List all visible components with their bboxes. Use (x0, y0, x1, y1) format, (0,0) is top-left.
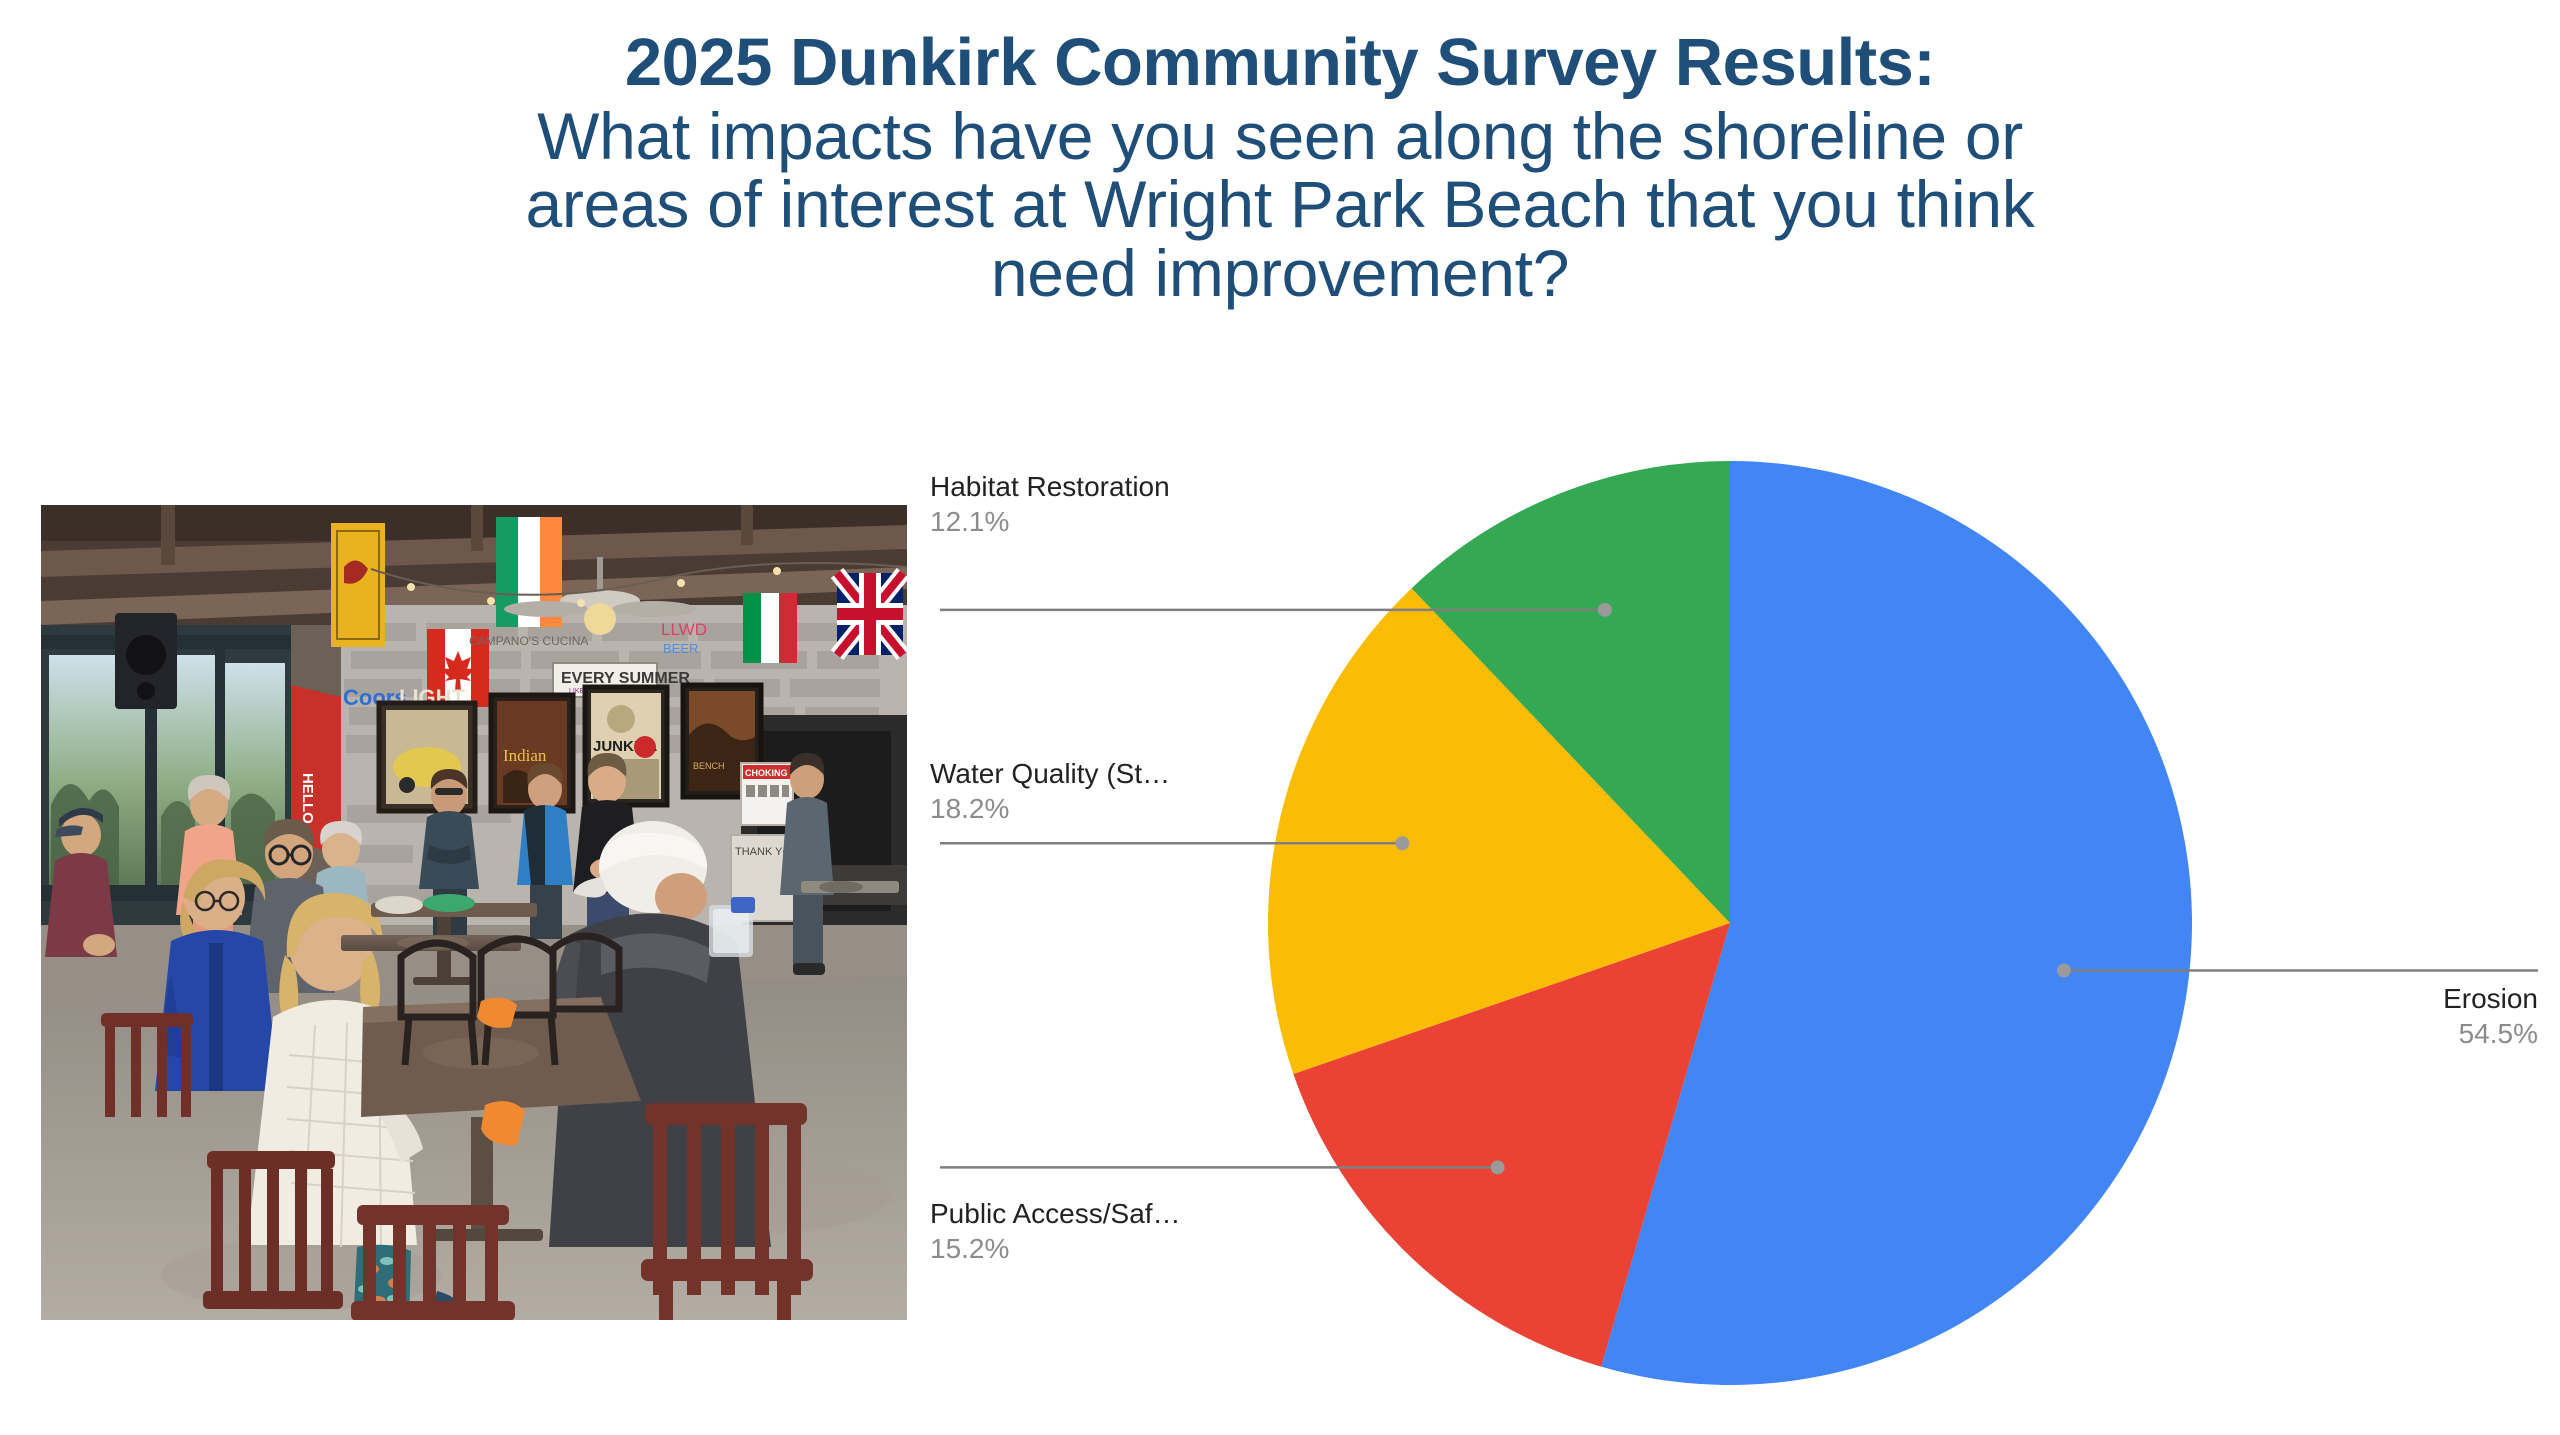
svg-text:CAMPANO'S CUCINA: CAMPANO'S CUCINA (469, 634, 588, 648)
pie-label-public-access-name: Public Access/Saf… (930, 1197, 1181, 1231)
subtitle-line-2: areas of interest at Wright Park Beach t… (0, 170, 2560, 239)
svg-text:Indian: Indian (503, 746, 547, 765)
svg-text:EVERY SUMMER: EVERY SUMMER (561, 670, 690, 687)
pie-label-habitat-restoration: Habitat Restoration 12.1% (930, 470, 1170, 540)
subtitle-line-3: need improvement? (0, 239, 2560, 308)
page-title: 2025 Dunkirk Community Survey Results: (0, 28, 2560, 98)
pie-leader-dot (1598, 603, 1612, 617)
svg-text:BEER: BEER (663, 641, 698, 656)
svg-text:HELLO: HELLO (299, 773, 316, 824)
slide-title-block: 2025 Dunkirk Community Survey Results: W… (0, 28, 2560, 308)
community-meeting-photo: Coors LIGHT LLWD BEER CAMPANO'S CUCINA E… (41, 505, 907, 1320)
pie-label-public-access-percent: 15.2% (930, 1231, 1181, 1267)
pie-label-erosion-percent: 54.5% (2443, 1016, 2538, 1052)
svg-text:LLWD: LLWD (661, 620, 707, 639)
pie-label-water-quality-percent: 18.2% (930, 791, 1170, 827)
pie-chart: Habitat Restoration 12.1% Water Quality … (930, 430, 2550, 1420)
pie-label-habitat-restoration-percent: 12.1% (930, 504, 1170, 540)
pie-leader-dot (1395, 836, 1409, 850)
pie-label-public-access: Public Access/Saf… 15.2% (930, 1197, 1181, 1267)
pie-label-water-quality: Water Quality (St… 18.2% (930, 757, 1170, 827)
pie-label-erosion-name: Erosion (2443, 982, 2538, 1016)
svg-text:BENCH: BENCH (693, 761, 725, 771)
pie-chart-svg (930, 430, 2550, 1420)
pie-leader-dot (1491, 1160, 1505, 1174)
pie-label-water-quality-name: Water Quality (St… (930, 757, 1170, 791)
pie-label-habitat-restoration-name: Habitat Restoration (930, 470, 1170, 504)
pie-label-erosion: Erosion 54.5% (2443, 982, 2538, 1052)
pie-leader-dot (2057, 964, 2071, 978)
pie-slices[interactable] (1268, 461, 2192, 1385)
subtitle-line-1: What impacts have you seen along the sho… (0, 102, 2560, 171)
community-meeting-photo-illustration: Coors LIGHT LLWD BEER CAMPANO'S CUCINA E… (41, 505, 907, 1320)
svg-text:CHOKING: CHOKING (745, 768, 788, 778)
